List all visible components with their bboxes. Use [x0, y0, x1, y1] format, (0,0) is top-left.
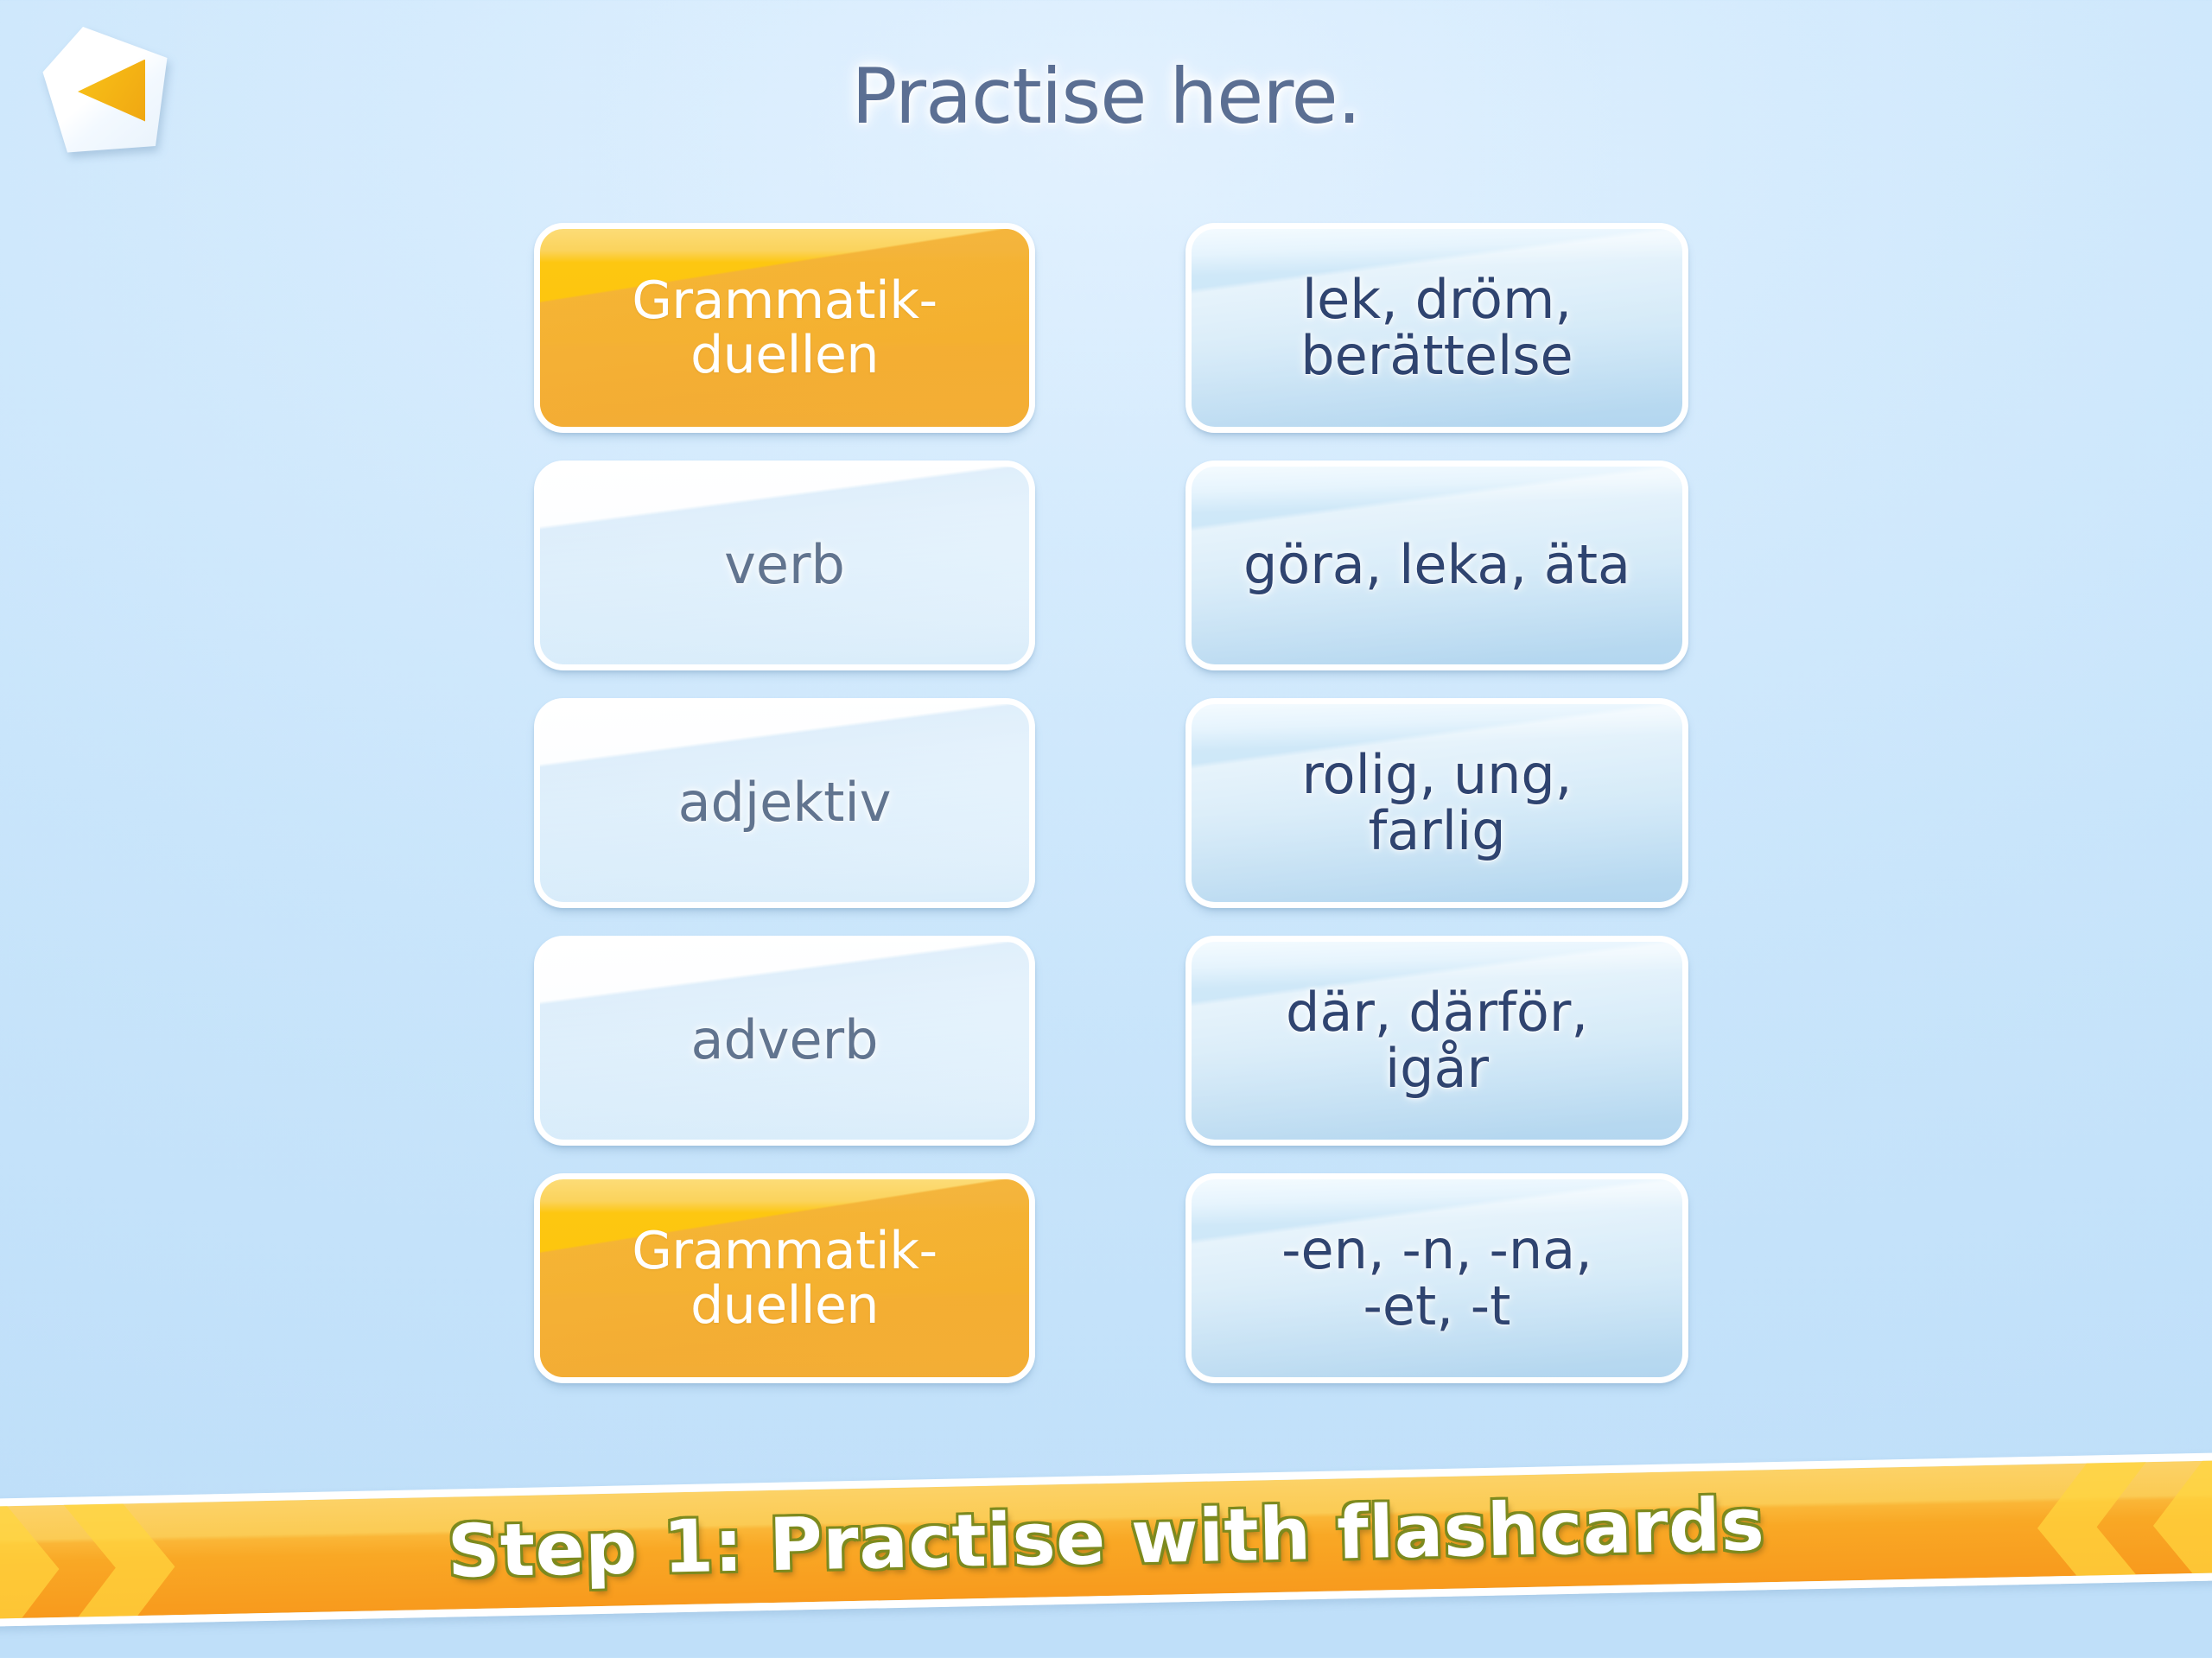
flashcard-row: Grammatik-duellenlek, dröm,berättelse: [0, 223, 2212, 461]
step-banner-label: Step 1: Practise with flashcards: [0, 1472, 2212, 1604]
flashcard-grid: Grammatik-duellenlek, dröm,berättelsever…: [0, 223, 2212, 1411]
flashcard-label: Grammatik-duellen: [613, 274, 956, 382]
flashcard-term[interactable]: Grammatik-duellen: [534, 223, 1035, 433]
flashcard-label: adverb: [671, 1013, 897, 1068]
flashcard-label: verb: [705, 537, 864, 593]
flashcard-label: lek, dröm,berättelse: [1281, 272, 1592, 384]
flashcard-example[interactable]: göra, leka, äta: [1185, 461, 1688, 670]
flashcard-example[interactable]: där, därför,igår: [1185, 936, 1688, 1146]
flashcard-label: där, därför,igår: [1267, 985, 1607, 1096]
flashcard-term[interactable]: adjektiv: [534, 698, 1035, 908]
step-banner: Step 1: Practise with flashcards: [0, 1452, 2212, 1627]
flashcard-label: Grammatik-duellen: [613, 1224, 956, 1332]
flashcard-row: Grammatik-duellen-en, -n, -na,-et, -t: [0, 1173, 2212, 1411]
flashcard-label: göra, leka, äta: [1224, 537, 1649, 593]
flashcard-example[interactable]: -en, -n, -na,-et, -t: [1185, 1173, 1688, 1383]
page-title: Practise here.: [0, 52, 2212, 141]
flashcard-term[interactable]: Grammatik-duellen: [534, 1173, 1035, 1383]
flashcard-row: adverbdär, därför,igår: [0, 936, 2212, 1173]
flashcard-label: -en, -n, -na,-et, -t: [1262, 1223, 1611, 1334]
flashcard-row: adjektivrolig, ung,farlig: [0, 698, 2212, 936]
flashcard-label: rolig, ung,farlig: [1283, 747, 1592, 859]
flashcard-example[interactable]: lek, dröm,berättelse: [1185, 223, 1688, 433]
flashcard-row: verbgöra, leka, äta: [0, 461, 2212, 698]
flashcard-term[interactable]: verb: [534, 461, 1035, 670]
flashcard-example[interactable]: rolig, ung,farlig: [1185, 698, 1688, 908]
flashcard-label: adjektiv: [659, 775, 911, 830]
flashcard-term[interactable]: adverb: [534, 936, 1035, 1146]
